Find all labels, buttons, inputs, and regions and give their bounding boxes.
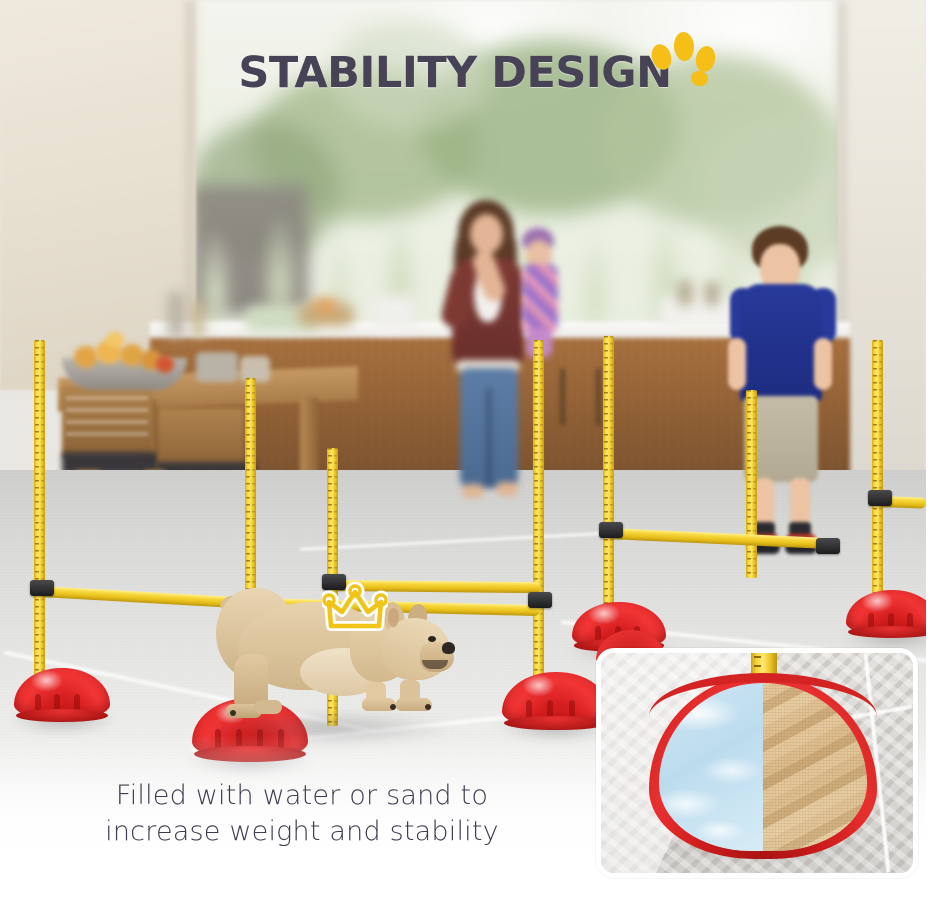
paw-toe [694, 44, 718, 73]
pole-measurement-ticks [753, 390, 756, 578]
page-title: STABILITY DESIGN [0, 48, 926, 98]
leg [754, 478, 774, 528]
base-rim [848, 626, 926, 638]
paw-toe [648, 42, 674, 73]
toddler [522, 228, 566, 368]
fruit [106, 332, 124, 348]
dog-toenail [390, 704, 396, 710]
fruit [156, 356, 174, 373]
chair-slat [66, 396, 148, 400]
pole-measurement-ticks [41, 340, 44, 696]
crossbar-clip[interactable] [30, 580, 54, 596]
arm [814, 338, 832, 390]
chair-slat [66, 408, 148, 412]
base-rim [504, 716, 608, 731]
agility-pole [603, 336, 614, 640]
crossbar-clip[interactable] [599, 522, 623, 538]
base-rim [16, 709, 108, 723]
chair-slat [66, 432, 148, 436]
crossbar-clip[interactable] [816, 538, 840, 554]
dog-hind-paw [254, 700, 282, 714]
pole-measurement-ticks [540, 340, 543, 716]
crown-icon [322, 582, 388, 640]
counter-container [372, 296, 416, 330]
cabinet-handle [596, 368, 601, 426]
cabinet-handle [560, 368, 565, 426]
paw-toe [689, 69, 709, 88]
counter-bottle [706, 282, 718, 306]
counter-bottle [678, 280, 692, 306]
leg-gap [487, 388, 491, 488]
foot [462, 484, 484, 498]
fruit [74, 346, 98, 368]
pole-measurement-ticks [610, 336, 613, 640]
table-item [196, 352, 238, 382]
product-scene-photo: STABILITY DESIGN Filled with water or sa… [0, 0, 926, 903]
caption-line-1: Filled with water or sand to [116, 780, 488, 811]
chair-slat [66, 420, 148, 424]
dog-toenail [230, 710, 236, 716]
dining-chair-back [158, 408, 244, 470]
feature-caption: Filled with water or sand to increase we… [22, 778, 582, 850]
agility-pole [533, 340, 544, 716]
leg [790, 478, 810, 528]
right-page-margin [926, 0, 950, 903]
dog-nose [442, 642, 455, 654]
pole-measurement-ticks [534, 340, 538, 716]
boy [752, 226, 842, 566]
paw-toe [673, 31, 695, 61]
cutaway-base-fill-inset [596, 648, 918, 878]
agility-pole [746, 390, 757, 578]
crossbar-clip[interactable] [528, 592, 552, 608]
counter-bottle [192, 300, 205, 338]
paw-print-icon [648, 28, 720, 98]
face [470, 214, 503, 254]
dog-toenail [425, 704, 431, 710]
crossbar-clip[interactable] [868, 490, 892, 506]
arm [728, 338, 746, 390]
foot [496, 482, 518, 496]
dog-eye [428, 636, 436, 642]
page-title-text: STABILITY DESIGN [238, 48, 671, 98]
pole-measurement-ticks [879, 340, 882, 620]
pole-measurement-ticks [35, 340, 39, 696]
feature-image-stage: STABILITY DESIGN Filled with water or sa… [0, 0, 950, 903]
counter-bottle [168, 292, 184, 338]
pole-measurement-ticks [873, 340, 877, 620]
pole-measurement-ticks [604, 336, 608, 640]
counter-fruit [312, 298, 338, 314]
blue-tshirt [740, 284, 822, 402]
agility-pole [872, 340, 883, 620]
pole-measurement-ticks [747, 390, 751, 578]
patterned-outfit [522, 264, 558, 334]
dog-inner-ear [388, 608, 399, 627]
caption-line-2: increase weight and stability [22, 814, 582, 850]
agility-pole [34, 340, 45, 696]
